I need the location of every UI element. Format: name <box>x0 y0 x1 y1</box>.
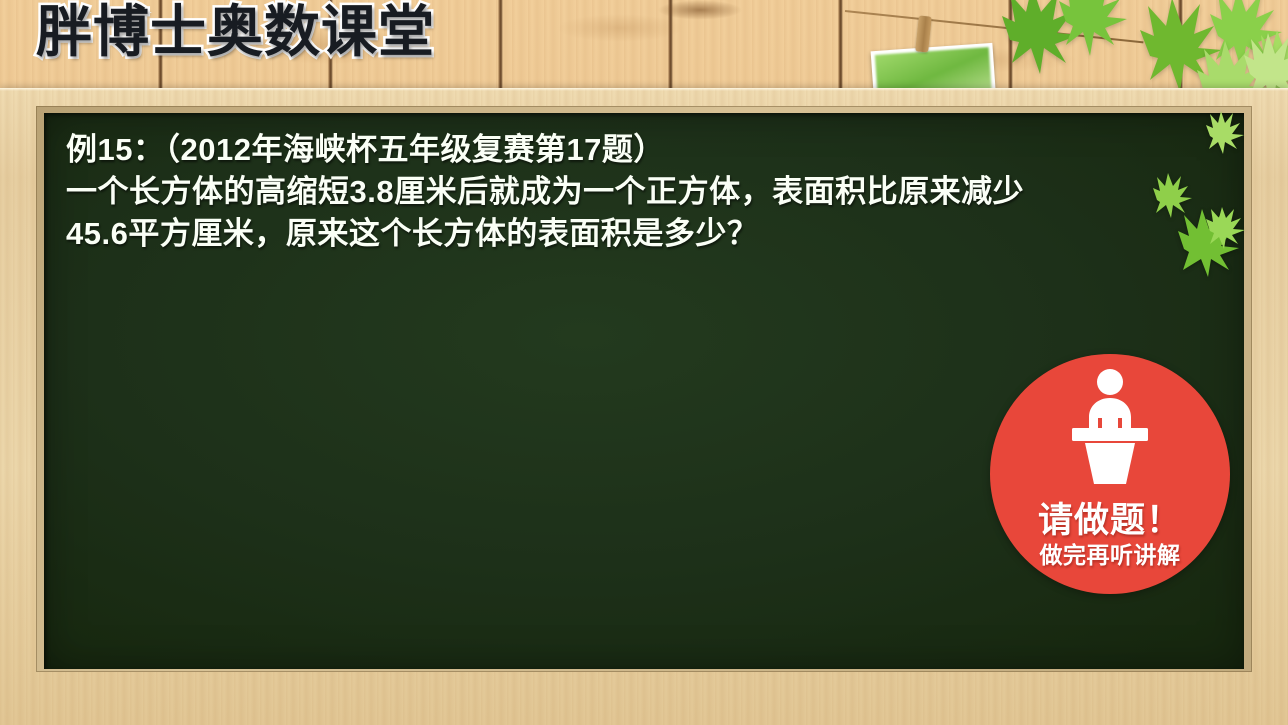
badge-secondary-text: 做完再听讲解 <box>990 536 1230 570</box>
question-line-2: 一个长方体的高缩短3.8厘米后就成为一个正方体，表面积比原来减少 <box>66 171 1246 213</box>
board-leaf-large <box>1168 205 1250 277</box>
do-the-problem-badge[interactable]: 请做题！ 做完再听讲解 <box>990 354 1230 594</box>
maple-leaf-icon <box>980 0 1130 84</box>
maple-leaf-cluster-center <box>980 0 1130 84</box>
maple-leaf-icon <box>1200 108 1250 156</box>
maple-leaf-icon <box>1168 205 1250 277</box>
board-leaf-small-top <box>1200 108 1250 156</box>
slide-canvas: 胖博士奥数课堂 例15：（2012年海峡杯五年级复赛第17题） 一个长方体的高缩… <box>0 0 1288 725</box>
question-line-1: 例15：（2012年海峡杯五年级复赛第17题） <box>66 129 1246 171</box>
page-title: 胖博士奥数课堂 <box>36 4 435 60</box>
podium-speaker-icon <box>1058 368 1162 484</box>
question-line-3: 45.6平方厘米，原来这个长方体的表面积是多少？ <box>66 213 1246 255</box>
question-text: 例15：（2012年海峡杯五年级复赛第17题） 一个长方体的高缩短3.8厘米后就… <box>66 129 1246 255</box>
